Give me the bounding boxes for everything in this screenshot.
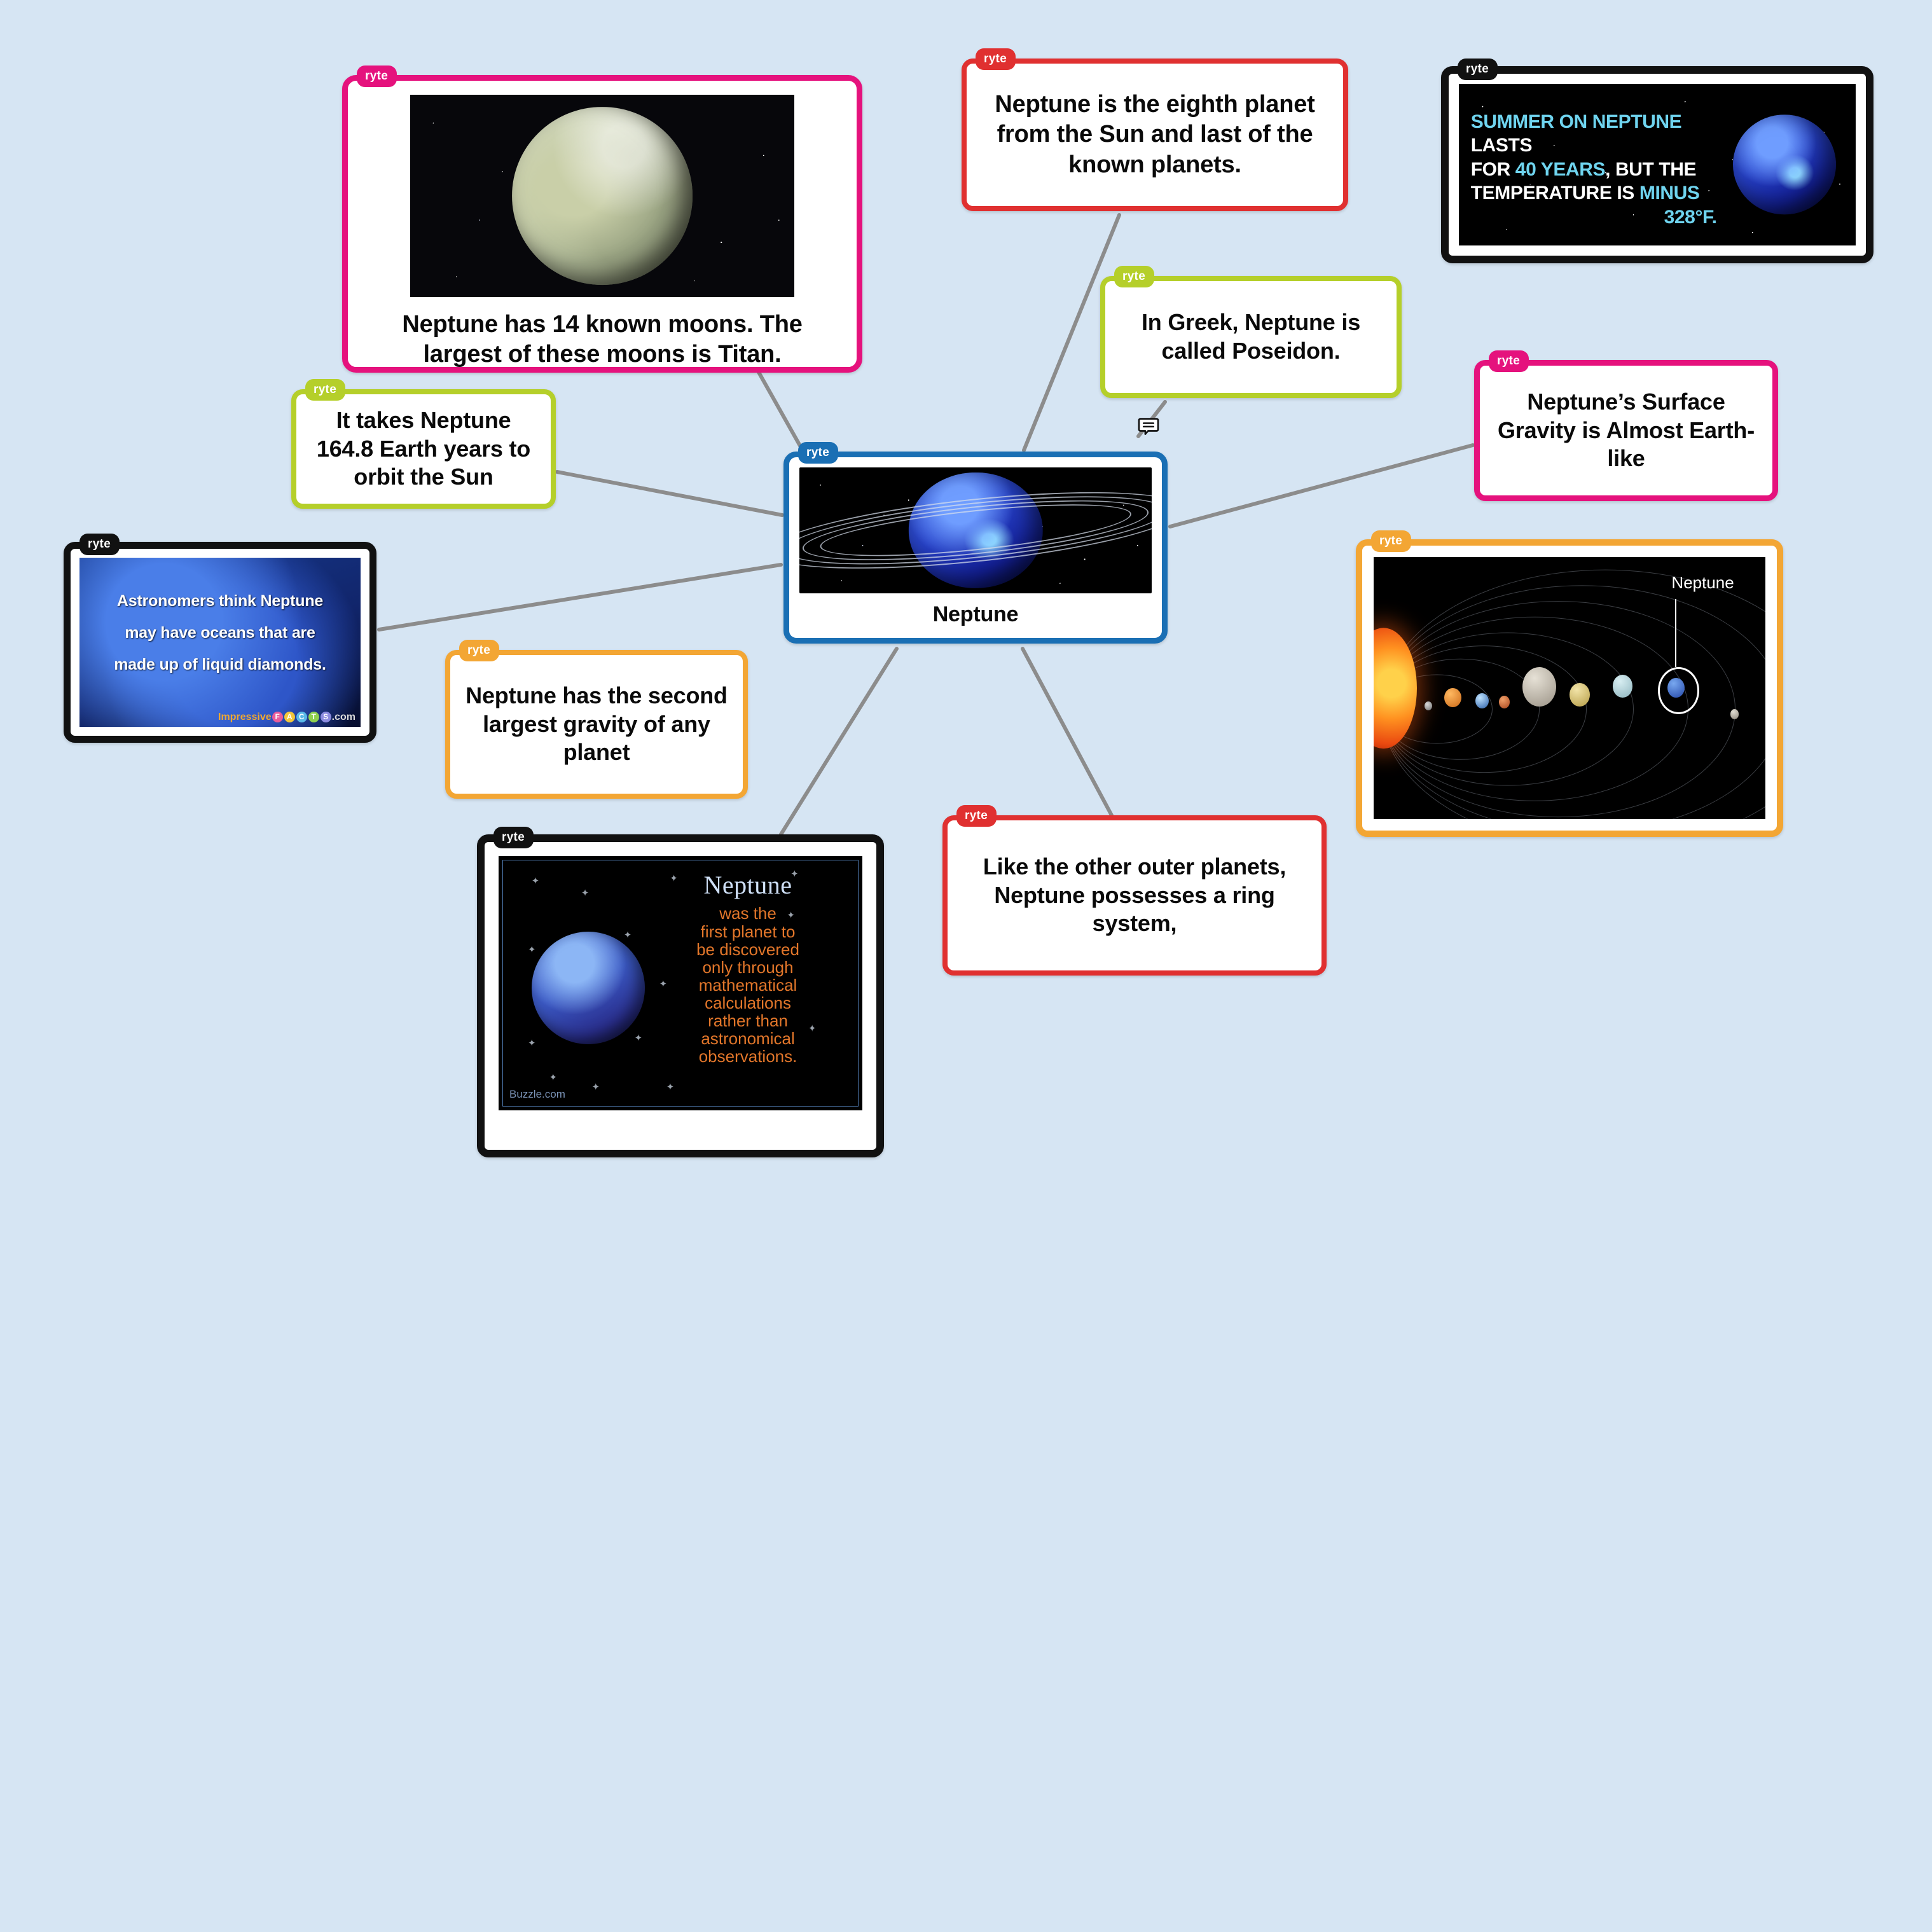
node-second-largest-gravity[interactable]: ryte Neptune has the second largest grav… — [445, 650, 748, 799]
neptune-planet-icon — [532, 932, 645, 1045]
central-node-title: Neptune — [799, 601, 1152, 628]
node-greek-poseidon-text: In Greek, Neptune is called Poseidon. — [1121, 308, 1381, 365]
node-surface-gravity-text: Neptune’s Surface Gravity is Almost Eart… — [1494, 388, 1758, 473]
watermark-letter-s: S — [321, 712, 331, 722]
mindmap-canvas[interactable]: ryte Neptune ryte Neptune has 14 known m… — [0, 0, 1932, 1932]
planet-uranus-icon — [1613, 675, 1632, 697]
watermark-letter-c: C — [296, 712, 307, 722]
node-orbit-years-text: It takes Neptune 164.8 Earth years to or… — [309, 406, 538, 492]
buzzle-body: was the first planet to be discovered on… — [652, 904, 843, 1065]
diamonds-line1: Astronomers think Neptune — [91, 585, 350, 617]
node-second-largest-gravity-text: Neptune has the second largest gravity o… — [464, 682, 729, 767]
neptune-highlight-circle — [1658, 667, 1699, 714]
summer-line2-b: 40 YEARS — [1515, 159, 1605, 180]
planet-jupiter-icon — [1522, 667, 1556, 707]
summer-line3-a: TEMPERATURE IS — [1471, 183, 1639, 204]
planet-mercury-icon — [1425, 701, 1432, 710]
node-moons[interactable]: ryte Neptune has 14 known moons. The lar… — [342, 75, 862, 373]
node-summer-image-text: SUMMER ON NEPTUNE LASTS FOR 40 YEARS, BU… — [1471, 110, 1717, 230]
node-liquid-diamonds-image-text: Astronomers think Neptune may have ocean… — [91, 585, 350, 680]
ryte-badge: ryte — [956, 805, 997, 827]
watermark-letter-t: T — [308, 712, 319, 722]
node-orbit-years[interactable]: ryte It takes Neptune 164.8 Earth years … — [291, 389, 556, 509]
edge-center-diamonds — [379, 565, 781, 630]
central-node-neptune[interactable]: ryte Neptune — [783, 452, 1168, 644]
ryte-badge: ryte — [1458, 59, 1498, 80]
ryte-badge: ryte — [493, 827, 534, 848]
buzzle-title: Neptune — [652, 870, 843, 900]
node-liquid-diamonds[interactable]: ryte Astronomers think Neptune may have … — [64, 542, 376, 743]
ryte-badge: ryte — [357, 66, 397, 87]
summer-line4: 328°F. — [1471, 205, 1717, 230]
ryte-badge: ryte — [1489, 350, 1529, 372]
triton-moon-icon — [512, 107, 693, 285]
edge-center-gravity2 — [1170, 445, 1473, 527]
diamonds-line3: made up of liquid diamonds. — [91, 649, 350, 680]
impressive-facts-watermark: ImpressiveFACTS.com — [218, 712, 355, 723]
central-node-image — [799, 467, 1152, 593]
node-surface-gravity[interactable]: ryte Neptune’s Surface Gravity is Almost… — [1474, 360, 1778, 501]
watermark-pre: Impressive — [218, 712, 272, 722]
node-liquid-diamonds-image: Astronomers think Neptune may have ocean… — [79, 558, 361, 727]
summer-line1-b: LASTS — [1471, 135, 1532, 156]
node-discovery-math-image: ✦✦ ✦✦ ✦✦ ✦✦ ✦✦ ✦✦ ✦✦ Neptune was the fir… — [499, 856, 862, 1110]
planet-saturn-icon — [1570, 683, 1590, 707]
node-solar-system[interactable]: ryte — [1356, 539, 1783, 837]
summer-line1-a: SUMMER ON NEPTUNE — [1471, 111, 1682, 132]
node-ring-system-text: Like the other outer planets, Neptune po… — [964, 853, 1305, 938]
solar-neptune-label: Neptune — [1671, 573, 1734, 593]
ryte-badge: ryte — [1371, 530, 1411, 552]
node-moons-text: Neptune has 14 known moons. The largest … — [364, 310, 840, 369]
node-moons-image — [410, 95, 794, 297]
edge-center-orbit — [557, 472, 782, 515]
solar-system-diagram-icon: Neptune — [1374, 557, 1765, 819]
summer-line2-c: , BUT THE — [1605, 159, 1696, 180]
summer-line2-a: FOR — [1471, 159, 1515, 180]
comment-icon[interactable] — [1138, 417, 1159, 438]
discovery-graphic: ✦✦ ✦✦ ✦✦ ✦✦ ✦✦ ✦✦ ✦✦ Neptune was the fir… — [502, 860, 859, 1107]
ryte-badge: ryte — [459, 640, 499, 661]
node-greek-poseidon[interactable]: ryte In Greek, Neptune is called Poseido… — [1100, 276, 1402, 398]
node-eighth-planet[interactable]: ryte Neptune is the eighth planet from t… — [962, 59, 1348, 211]
ryte-badge: ryte — [305, 379, 345, 401]
neptune-callout-line — [1675, 599, 1676, 667]
node-eighth-planet-text: Neptune is the eighth planet from the Su… — [983, 90, 1327, 179]
node-summer-temperature[interactable]: ryte SUMMER ON NEPTUNE LASTS FOR 40 YEAR… — [1441, 66, 1873, 263]
watermark-letter-a: A — [284, 712, 295, 722]
buzzle-watermark: Buzzle.com — [509, 1088, 565, 1101]
planet-pluto-icon — [1730, 709, 1739, 719]
ryte-badge: ryte — [79, 534, 120, 555]
ryte-badge: ryte — [798, 442, 838, 464]
node-ring-system[interactable]: ryte Like the other outer planets, Neptu… — [942, 815, 1327, 976]
edge-center-buzzle — [781, 649, 897, 834]
summer-line3-b: MINUS — [1639, 183, 1700, 204]
ryte-badge: ryte — [1114, 266, 1154, 287]
watermark-letter-f: F — [272, 712, 283, 722]
edge-center-ring — [1023, 649, 1112, 815]
diamonds-line2: may have oceans that are — [91, 617, 350, 649]
node-summer-image: SUMMER ON NEPTUNE LASTS FOR 40 YEARS, BU… — [1459, 84, 1856, 245]
watermark-post: .com — [332, 712, 355, 722]
node-discovery-math[interactable]: ryte ✦✦ ✦✦ ✦✦ ✦✦ ✦✦ ✦✦ ✦✦ Neptune was th… — [477, 834, 884, 1157]
node-solar-system-image: Neptune — [1374, 557, 1765, 819]
ryte-badge: ryte — [976, 48, 1016, 70]
neptune-planet-icon — [1733, 114, 1836, 214]
